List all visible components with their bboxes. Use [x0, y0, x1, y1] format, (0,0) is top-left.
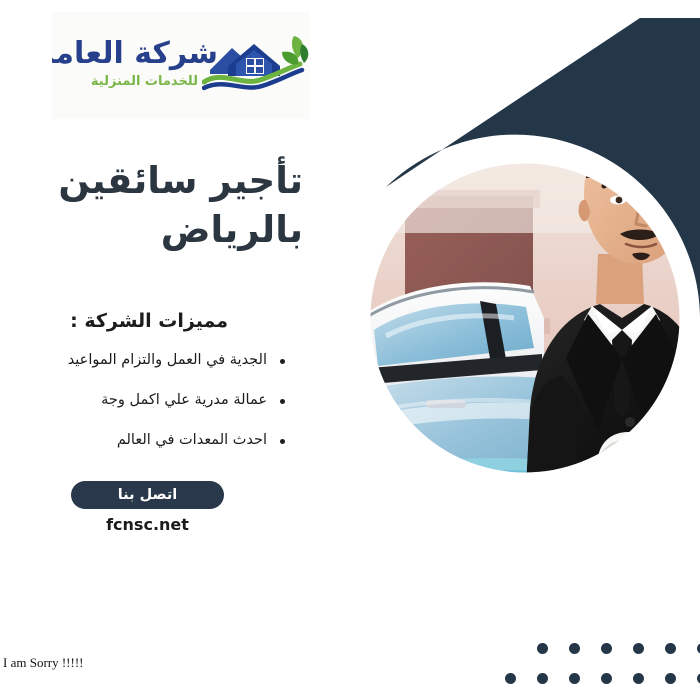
grid-dot: [633, 643, 644, 654]
logo-company-name: شركة العامر: [52, 36, 218, 71]
logo-tagline: للخدمات المنزلية: [91, 74, 198, 89]
grid-dot: [569, 673, 580, 684]
grid-dot: [569, 643, 580, 654]
list-item-label: الجدية في العمل والتزام المواعيد: [68, 352, 267, 368]
grid-dot: [601, 673, 612, 684]
bullet-icon: [280, 439, 285, 444]
sorry-note: I am Sorry !!!!!: [3, 655, 84, 671]
features-heading: مميزات الشركة :: [70, 310, 228, 332]
company-logo[interactable]: شركة العامر للخدمات المنزلية: [52, 12, 310, 119]
headline-line-1: تأجير سائقين: [58, 159, 303, 202]
list-item: الجدية في العمل والتزام المواعيد: [70, 352, 285, 368]
grid-dot: [505, 673, 516, 684]
page-title: تأجير سائقين بالرياض: [43, 156, 303, 254]
house-with-leaf-icon: [202, 30, 310, 100]
list-item-label: عمالة مدرية علي اكمل وجة: [101, 392, 267, 408]
grid-dot: [601, 643, 612, 654]
list-item: احدث المعدات في العالم: [70, 432, 285, 448]
grid-dot: [633, 673, 644, 684]
bullet-icon: [280, 359, 285, 364]
list-item-label: احدث المعدات في العالم: [117, 432, 267, 448]
dot-grid-decoration: [495, 643, 700, 688]
grid-dot: [665, 673, 676, 684]
grid-dot: [665, 643, 676, 654]
hero-artwork: [330, 18, 700, 623]
list-item: عمالة مدرية علي اكمل وجة: [70, 392, 285, 408]
hero-artwork-svg: [330, 18, 700, 623]
ad-canvas: شركة العامر للخدمات المنزلية تأجير سائقي…: [0, 0, 700, 700]
grid-dot: [537, 643, 548, 654]
features-list: الجدية في العمل والتزام المواعيد عمالة م…: [70, 352, 285, 472]
grid-dot: [537, 673, 548, 684]
website-url[interactable]: fcnsc.net: [71, 515, 224, 534]
bullet-icon: [280, 399, 285, 404]
headline-line-2: بالرياض: [43, 205, 303, 254]
contact-us-button[interactable]: اتصل بنا: [71, 481, 224, 509]
